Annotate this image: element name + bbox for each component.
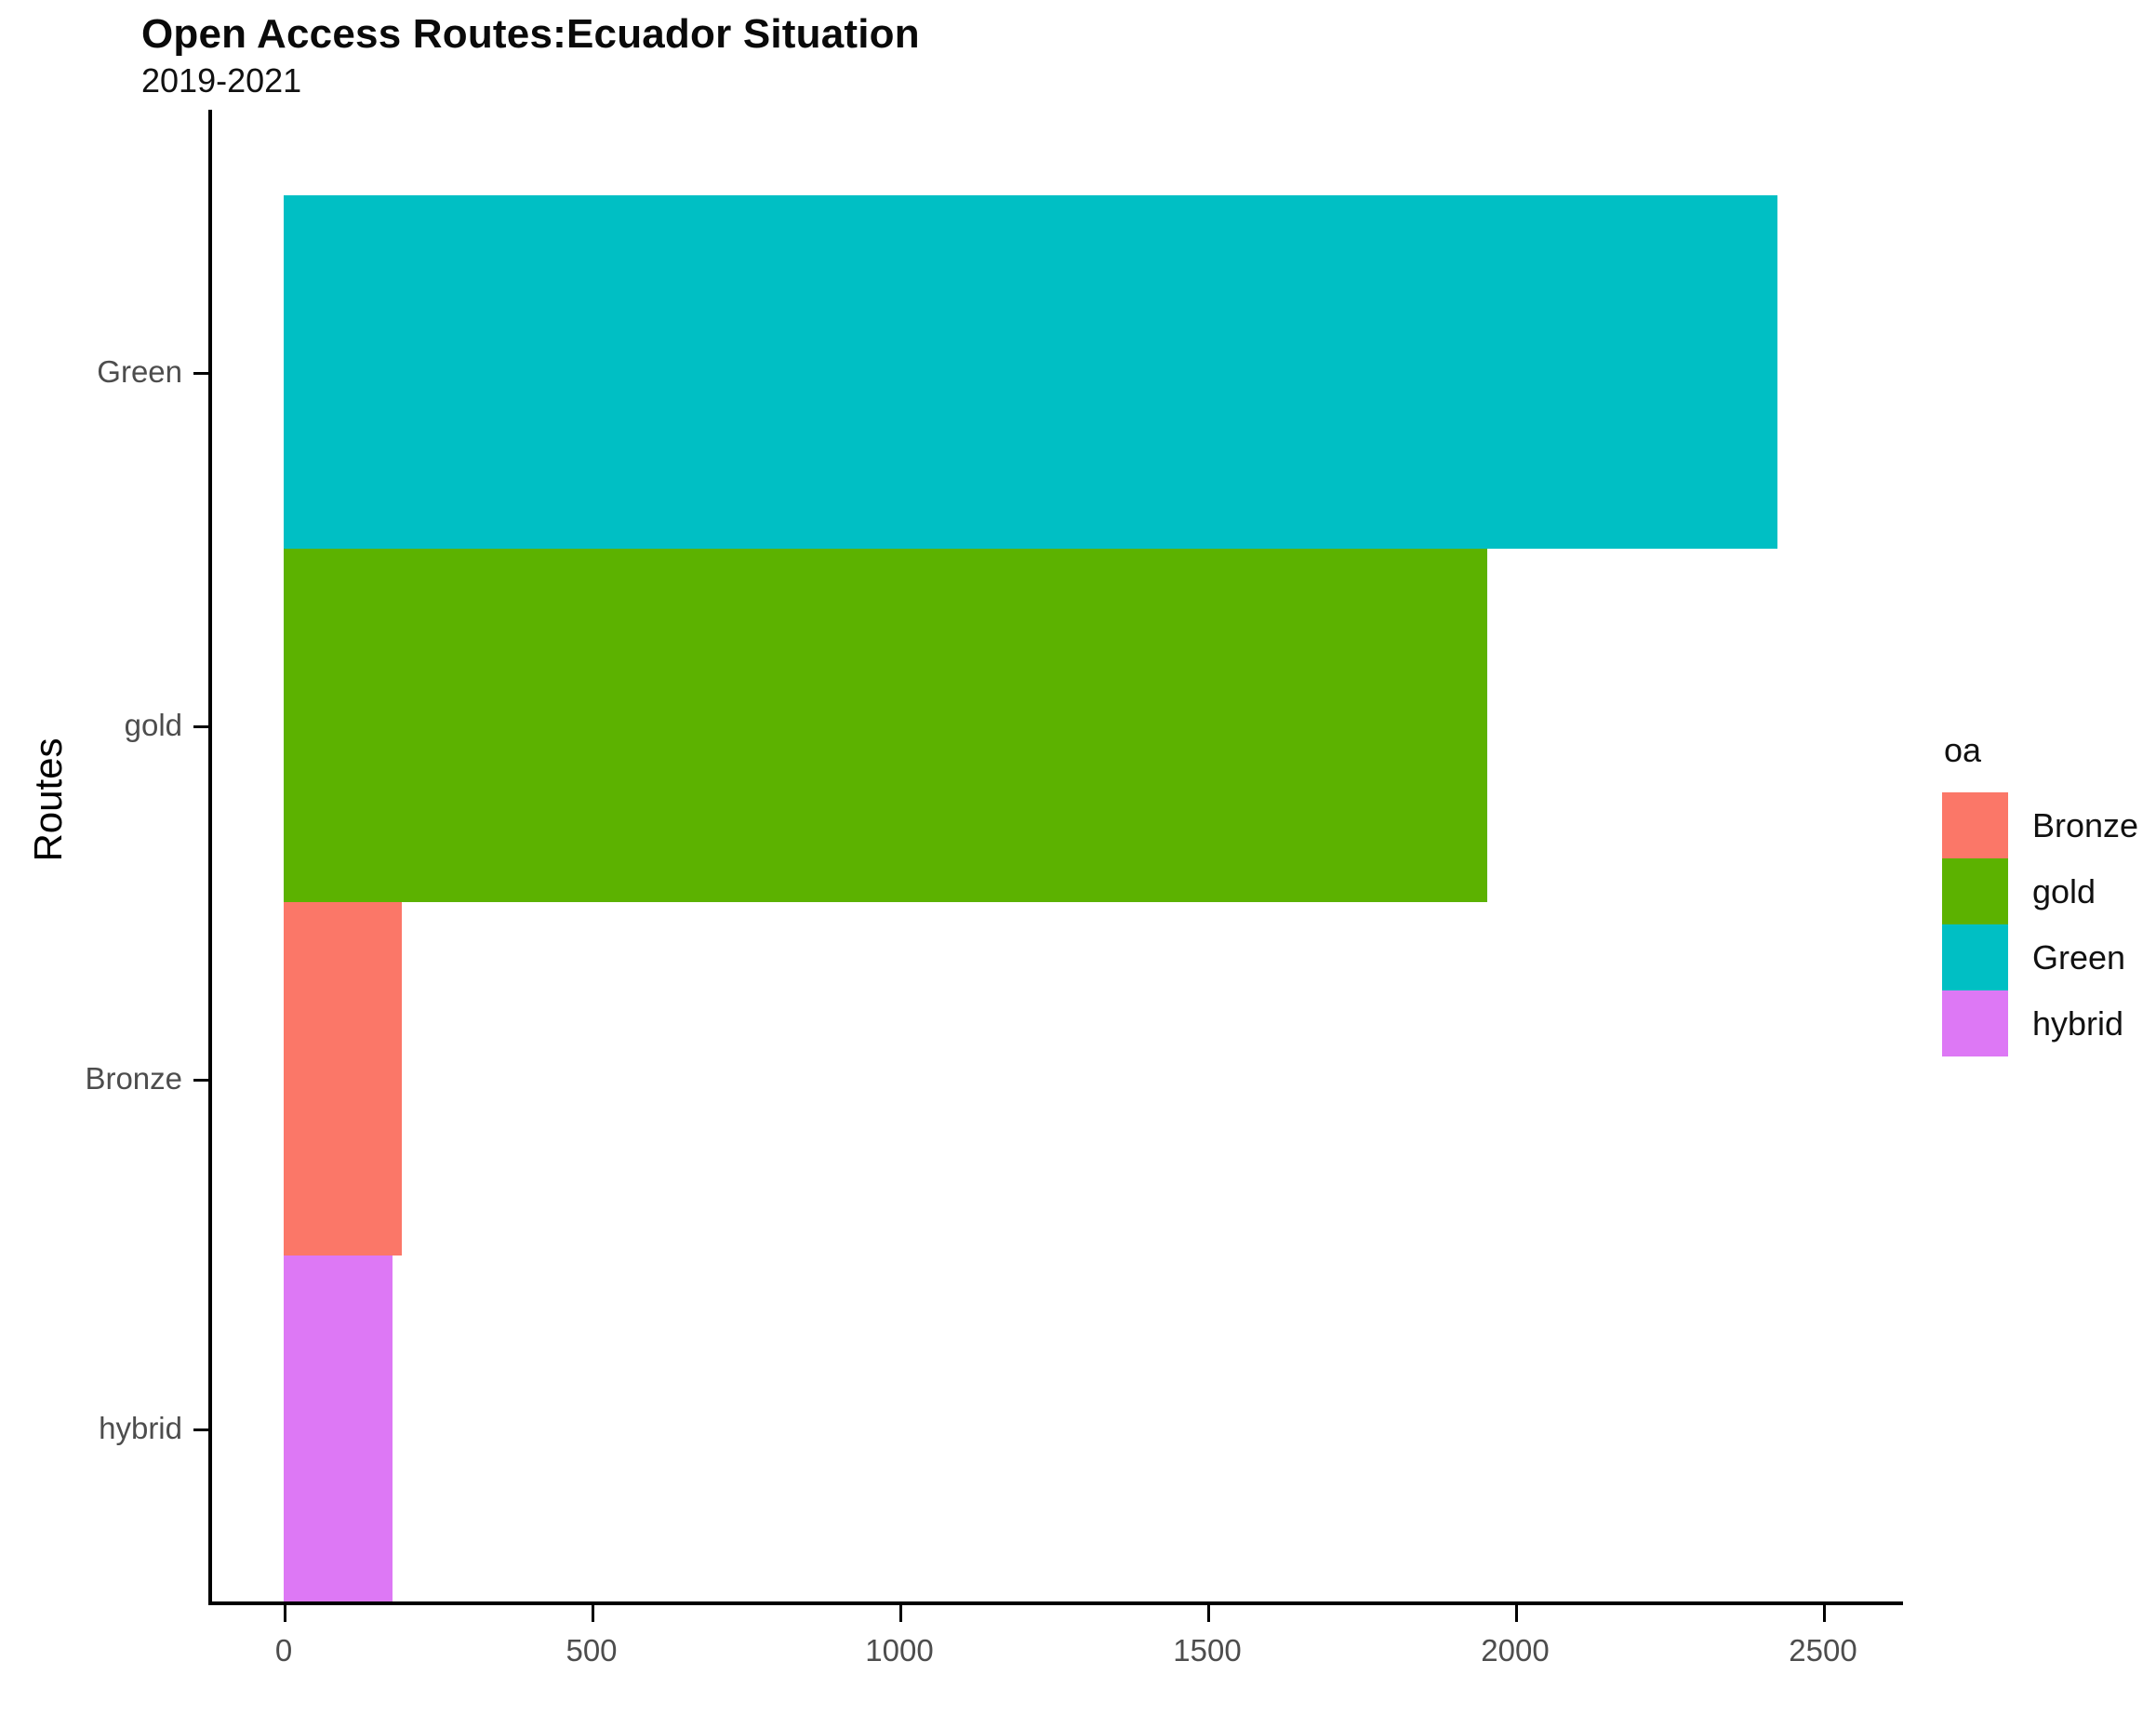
y-tick-mark [193,372,208,375]
legend-label-hybrid: hybrid [2032,1004,2123,1043]
legend-swatch-green [1942,924,2008,990]
legend-swatch-gold [1942,858,2008,924]
legend-item-green[interactable]: Green [1942,924,2138,990]
chart-title: Open Access Routes:Ecuador Situation [141,11,920,58]
legend-title: oa [1942,731,2138,770]
bar-hybrid [284,1256,393,1601]
legend-item-gold[interactable]: gold [1942,858,2138,924]
bar-green [284,195,1777,549]
y-tick-mark [193,1428,208,1431]
x-tick-mark [1823,1605,1826,1622]
plot-area [208,110,1903,1601]
x-tick-label-1000: 1000 [865,1633,933,1668]
y-tick-label-gold: gold [125,708,182,743]
y-tick-label-bronze: Bronze [85,1061,182,1096]
y-axis-title: Routes [26,698,71,902]
y-tick-label-hybrid: hybrid [99,1411,182,1446]
legend-item-bronze[interactable]: Bronze [1942,792,2138,858]
legend-label-green: Green [2032,938,2125,977]
bar-bronze [284,902,402,1256]
x-tick-mark [284,1605,286,1622]
x-tick-mark [592,1605,594,1622]
legend-swatch-hybrid [1942,990,2008,1056]
y-tick-label-green: Green [97,354,182,390]
y-tick-mark [193,725,208,728]
bar-gold [284,549,1487,902]
legend-item-hybrid[interactable]: hybrid [1942,990,2138,1056]
x-tick-label-2000: 2000 [1481,1633,1549,1668]
y-tick-mark [193,1079,208,1082]
legend-label-bronze: Bronze [2032,806,2138,845]
x-tick-label-1500: 1500 [1173,1633,1241,1668]
legend-swatch-bronze [1942,792,2008,858]
x-axis-line [208,1601,1903,1605]
legend-items: BronzegoldGreenhybrid [1942,792,2138,1056]
legend: oa BronzegoldGreenhybrid [1942,731,2138,1056]
x-tick-mark [1515,1605,1518,1622]
x-tick-label-0: 0 [275,1633,292,1668]
x-tick-label-2500: 2500 [1789,1633,1857,1668]
x-tick-mark [899,1605,902,1622]
x-tick-label-500: 500 [566,1633,617,1668]
chart-subtitle: 2019-2021 [141,61,301,100]
x-tick-mark [1207,1605,1210,1622]
legend-label-gold: gold [2032,872,2096,911]
